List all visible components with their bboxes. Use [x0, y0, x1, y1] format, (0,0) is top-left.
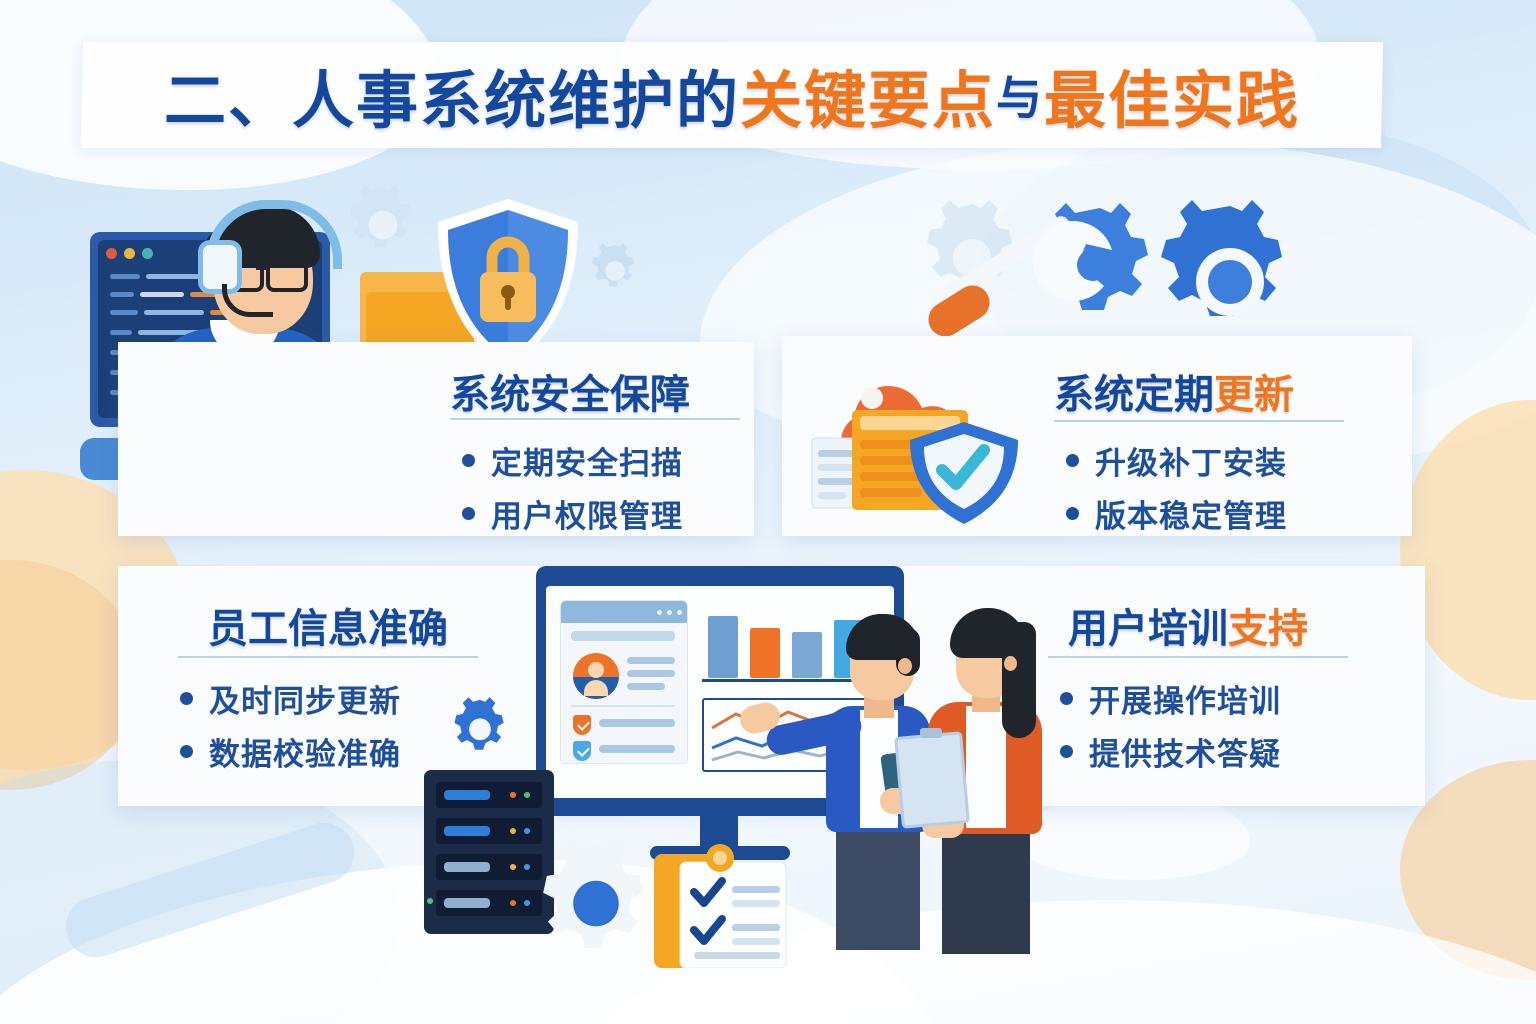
code-line: [110, 330, 132, 335]
panel-line: [627, 670, 675, 677]
female-skirt: [942, 820, 1030, 954]
code-line: [140, 292, 184, 297]
list-item-label: 及时同步更新: [209, 676, 401, 721]
list-item: 开展操作培训: [1060, 676, 1281, 721]
list-item: 及时同步更新: [180, 676, 401, 721]
page-title: 二、人事系统维护的关键要点与最佳实践: [82, 42, 1382, 148]
card-bullet-list: 开展操作培训 提供技术答疑: [1060, 676, 1281, 782]
male-trousers: [836, 818, 920, 950]
decorative-gear-large: [338, 180, 428, 270]
decorative-gear-small: [584, 240, 646, 302]
bar: [750, 628, 780, 678]
clipboard-line: [694, 952, 780, 959]
led-indicator: [510, 864, 516, 870]
paper-line: [818, 464, 854, 471]
card-title-orange: 更新: [1214, 373, 1294, 417]
card-title: 系统定期更新: [1054, 362, 1294, 420]
led-indicator: [524, 792, 530, 798]
list-item-label: 用户权限管理: [491, 491, 683, 536]
paper-line: [818, 450, 854, 457]
gear-blue-right: [1161, 200, 1282, 316]
list-item-label: 升级补丁安装: [1095, 438, 1287, 483]
card-title: 员工信息准确: [208, 596, 448, 654]
card-system-security[interactable]: 系统安全保障 定期安全扫描 用户权限管理: [118, 342, 754, 536]
card-title: 用户培训支持: [1068, 596, 1308, 654]
code-line: [110, 292, 134, 297]
server-screen: [444, 790, 490, 800]
panel-dot: [667, 610, 672, 615]
bullet-dot-icon: [180, 692, 193, 705]
panel-line: [571, 631, 675, 641]
document-titlebar: [860, 416, 960, 430]
bullet-dot-icon: [462, 454, 475, 467]
list-item-label: 提供技术答疑: [1089, 729, 1281, 774]
illustration-cloud-document-shield: [804, 358, 1034, 528]
title-segment-orange-1: 关键要点: [740, 50, 996, 140]
led-indicator: [510, 828, 516, 834]
window-dot-yellow: [124, 248, 135, 259]
server-unit: [436, 854, 542, 880]
code-line: [110, 274, 140, 279]
list-item-label: 版本稳定管理: [1095, 491, 1287, 536]
card-divider: [450, 418, 740, 420]
avatar: [573, 653, 619, 699]
server-rack: [424, 770, 554, 934]
panel-divider: [571, 705, 675, 707]
panel-line: [627, 657, 675, 664]
card-bullet-list: 及时同步更新 数据校验准确: [180, 676, 401, 782]
infographic-canvas: 二、人事系统维护的关键要点与最佳实践: [0, 0, 1536, 1024]
led-indicator: [510, 900, 516, 906]
server-screen: [444, 862, 490, 872]
server-unit: [436, 782, 542, 808]
list-item: 升级补丁安装: [1066, 438, 1287, 483]
paper-line: [818, 478, 854, 485]
code-line: [144, 310, 204, 315]
bullet-dot-icon: [1066, 454, 1079, 467]
document-line: [860, 488, 922, 497]
card-title-blue: 系统定期: [1054, 373, 1214, 417]
led-indicator: [524, 828, 530, 834]
panel-line: [599, 745, 675, 753]
server-power-led: [427, 898, 433, 904]
card-title-blue: 用户培训: [1068, 607, 1228, 651]
clipboard-line: [732, 886, 780, 893]
card-title-blue: 系统安全保障: [450, 373, 690, 417]
panel-line: [599, 719, 675, 727]
server-screen: [444, 898, 490, 908]
clipboard-line: [732, 900, 780, 907]
title-segment-orange-2: 最佳实践: [1044, 50, 1300, 140]
list-item: 版本稳定管理: [1066, 491, 1287, 536]
gear-icon-white-large: [536, 840, 656, 960]
held-clipboard: [894, 731, 970, 829]
list-item-label: 开展操作培训: [1089, 676, 1281, 721]
server-unit: [436, 890, 542, 916]
paper-line: [818, 492, 846, 499]
female-top: [966, 706, 1006, 828]
bullet-dot-icon: [462, 507, 475, 520]
card-bullet-list: 定期安全扫描 用户权限管理: [462, 438, 683, 544]
bullet-dot-icon: [1060, 692, 1073, 705]
presenter-female: [916, 606, 1056, 954]
held-clipboard-clip: [920, 728, 942, 738]
window-dot-green: [142, 248, 153, 259]
card-bullet-list: 升级补丁安装 版本稳定管理: [1066, 438, 1287, 544]
clipboard-clip-inner: [713, 851, 727, 865]
panel-dot: [657, 610, 662, 615]
led-indicator: [524, 864, 530, 870]
card-system-update[interactable]: 系统定期更新 升级补丁安装 版本稳定管理: [782, 336, 1412, 536]
panel-line: [627, 683, 665, 690]
title-segment-blue-2: 与: [996, 62, 1044, 128]
panel-dot: [677, 610, 682, 615]
list-item-label: 数据校验准确: [209, 729, 401, 774]
card-divider: [1048, 656, 1348, 658]
card-divider: [1054, 420, 1344, 422]
card-title-orange: 支持: [1228, 607, 1308, 651]
code-line: [110, 310, 138, 315]
clipboard-line: [732, 924, 780, 931]
card-title-blue: 员工信息准确: [208, 607, 448, 651]
bullet-dot-icon: [180, 745, 193, 758]
female-ear: [1004, 656, 1017, 671]
window-dot-red: [106, 248, 117, 259]
bar: [708, 616, 738, 678]
clipboard-line: [732, 938, 780, 945]
cloud-hole: [861, 387, 883, 409]
list-item: 数据校验准确: [180, 729, 401, 774]
card-title: 系统安全保障: [450, 362, 690, 420]
lock-keyslot: [505, 294, 511, 310]
title-segment-blue-1: 二、人事系统维护的: [164, 50, 740, 140]
list-item: 定期安全扫描: [462, 438, 683, 483]
female-hair-long: [1002, 622, 1036, 738]
led-indicator: [524, 900, 530, 906]
bullet-dot-icon: [1060, 745, 1073, 758]
gear-icon-accent: [448, 696, 512, 760]
server-unit: [436, 818, 542, 844]
server-screen: [444, 826, 490, 836]
male-ear: [898, 658, 912, 674]
clipboard-checklist: [650, 838, 790, 968]
card-divider: [178, 656, 478, 658]
profile-panel: [560, 600, 688, 764]
list-item: 提供技术答疑: [1060, 729, 1281, 774]
list-item: 用户权限管理: [462, 491, 683, 536]
bullet-dot-icon: [1066, 507, 1079, 520]
led-indicator: [510, 792, 516, 798]
list-item-label: 定期安全扫描: [491, 438, 683, 483]
